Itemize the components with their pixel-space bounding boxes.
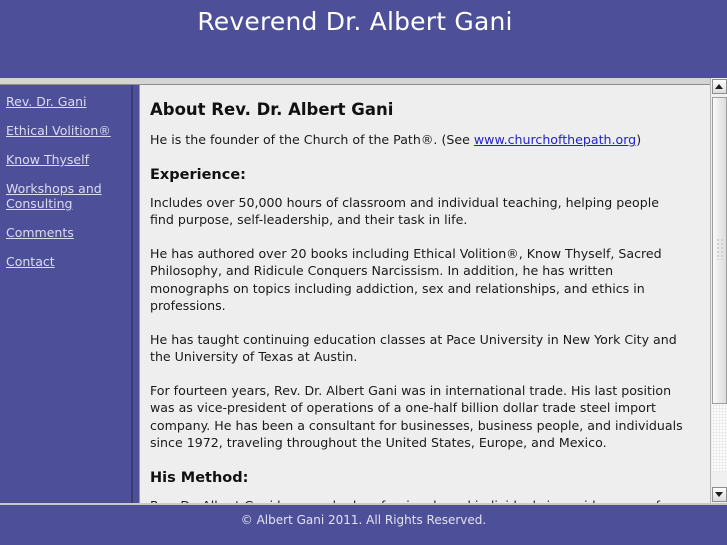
- site-header: Reverend Dr. Albert Gani: [0, 0, 727, 78]
- content-body: About Rev. Dr. Albert Gani He is the fou…: [140, 85, 706, 503]
- scrollbar-grip-icon: [716, 238, 724, 260]
- sidebar-item-comments[interactable]: Comments: [6, 225, 124, 240]
- experience-paragraph-4: For fourteen years, Rev. Dr. Albert Gani…: [150, 382, 684, 452]
- content-pane: About Rev. Dr. Albert Gani He is the fou…: [139, 85, 727, 503]
- intro-paragraph: He is the founder of the Church of the P…: [150, 131, 684, 149]
- page-root: Reverend Dr. Albert Gani Rev. Dr. Gani E…: [0, 0, 727, 545]
- sidebar-nav: Rev. Dr. Gani Ethical Volition® Know Thy…: [0, 85, 133, 503]
- triangle-down-icon: [715, 492, 723, 497]
- page-title: Reverend Dr. Albert Gani: [0, 7, 710, 36]
- header-divider: [0, 78, 727, 85]
- main-band: Rev. Dr. Gani Ethical Volition® Know Thy…: [0, 85, 727, 503]
- triangle-up-icon: [715, 84, 723, 89]
- sidebar-item-know-thyself[interactable]: Know Thyself: [6, 152, 124, 167]
- experience-paragraph-1: Includes over 50,000 hours of classroom …: [150, 194, 684, 229]
- page-scroll-down-button[interactable]: [712, 487, 727, 502]
- method-heading: His Method:: [150, 470, 684, 486]
- sidebar-item-rev-dr-gani[interactable]: Rev. Dr. Gani: [6, 94, 124, 109]
- intro-text-after: ): [636, 132, 641, 147]
- intro-text-before: He is the founder of the Church of the P…: [150, 132, 474, 147]
- sidebar-item-ethical-volition[interactable]: Ethical Volition®: [6, 123, 124, 138]
- experience-paragraph-3: He has taught continuing education class…: [150, 331, 684, 366]
- site-footer: © Albert Gani 2011. All Rights Reserved.: [0, 503, 727, 545]
- page-scrollbar[interactable]: [710, 78, 727, 503]
- copyright-text: © Albert Gani 2011. All Rights Reserved.: [0, 513, 727, 527]
- sidebar-item-workshops-and-consulting[interactable]: Workshops and Consulting: [6, 181, 124, 211]
- experience-paragraph-2: He has authored over 20 books including …: [150, 245, 684, 315]
- page-scroll-up-button[interactable]: [712, 79, 727, 94]
- page-scrollbar-track[interactable]: [712, 404, 727, 472]
- sidebar-item-contact[interactable]: Contact: [6, 254, 124, 269]
- content-heading: About Rev. Dr. Albert Gani: [150, 100, 684, 119]
- page-scrollbar-thumb[interactable]: [712, 97, 727, 404]
- church-of-the-path-link[interactable]: www.churchofthepath.org: [474, 132, 636, 147]
- experience-heading: Experience:: [150, 167, 684, 183]
